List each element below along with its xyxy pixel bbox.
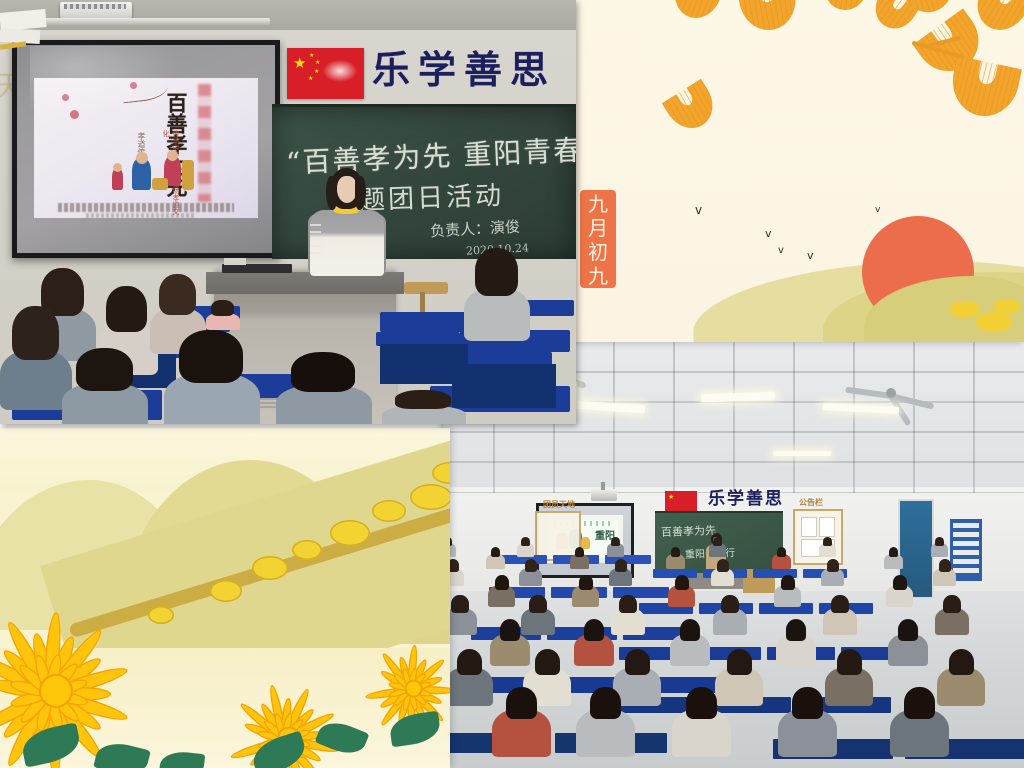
- wall-banner-classroom: 乐学善思: [708, 489, 784, 509]
- classroom-desk-2-1: [653, 569, 697, 578]
- classroom-student-head-5-1: [500, 619, 521, 641]
- ceiling-tile-36: [733, 431, 795, 463]
- ceiling-tile-34: [613, 431, 675, 463]
- foliage-clump-1: [976, 312, 1012, 332]
- classroom-student-head-3-3: [579, 575, 593, 590]
- ceiling-tile-50: [973, 461, 1024, 493]
- speaker-torso: [310, 210, 384, 276]
- classroom-student-head-6-4: [625, 649, 650, 675]
- classroom-student-head-5-3: [584, 619, 605, 641]
- classroom-student-head-6-8: [837, 649, 862, 675]
- classroom-student-head-7-7: [792, 687, 823, 719]
- podium-paper: [224, 258, 246, 265]
- collage-stage: 重阳 ★ 乐学善思 百善孝为先 重阳青春行 团员天地 公告栏: [0, 0, 1024, 768]
- student-head-10: [211, 300, 233, 316]
- classroom-student-head-6-10: [949, 649, 974, 675]
- photo-panel-podium[interactable]: 天地 百善孝为先 孝道传承 传承中华美德 弘扬孝道文化: [0, 0, 576, 424]
- student-head-6: [179, 330, 242, 383]
- ceiling-tile-37: [793, 431, 855, 463]
- ceiling-tile-48: [853, 461, 915, 493]
- ceiling-tile-8: [853, 341, 915, 373]
- ridge-tree-6: [410, 484, 450, 510]
- seal-char-1: 九: [580, 192, 616, 216]
- ceiling-tile-6: [733, 341, 795, 373]
- foliage-clump-3: [994, 299, 1020, 314]
- flag-glare: [323, 60, 357, 82]
- classroom-student-head-0-2: [521, 537, 530, 546]
- ceiling-tile-39: [913, 431, 975, 463]
- ceiling-tile-14: [613, 371, 675, 403]
- ceiling-tile-38: [853, 431, 915, 463]
- ceiling-tile-20: [973, 371, 1024, 403]
- classroom-student-head-4-2: [529, 595, 547, 613]
- classroom-student-head-4-6: [721, 595, 739, 613]
- ridge-tree-2: [252, 556, 288, 580]
- ceiling-tile-33: [553, 431, 615, 463]
- classroom-student-head-4-8: [831, 595, 849, 613]
- ceiling-tile-35: [673, 431, 735, 463]
- ceiling-tile-10: [973, 341, 1024, 373]
- classroom-student-head-0-8: [823, 537, 832, 546]
- classroom-student-head-3-5: [675, 575, 689, 590]
- classroom-student-head-0-4: [611, 537, 620, 546]
- projector-mount: [601, 482, 605, 490]
- student-head-2: [106, 286, 147, 332]
- date-seal: 九 月 初 九: [580, 190, 616, 288]
- national-flag: ★ ★ ★ ★ ★: [287, 48, 364, 99]
- classroom-student-head-1-5: [671, 547, 681, 557]
- flag-small-star-3: ★: [314, 69, 319, 75]
- ceiling-tile-4: [613, 341, 675, 373]
- classroom-student-head-1-7: [777, 547, 787, 557]
- classroom-student-head-7-9: [904, 687, 935, 719]
- podium-keyboard: [222, 264, 292, 273]
- wall-banner-podium: 乐学善思: [372, 44, 576, 96]
- classroom-student-head-2-8: [827, 559, 839, 572]
- ceiling-fan-right: [843, 379, 939, 407]
- projector-rail: [20, 18, 270, 25]
- classroom-student-head-7-5: [686, 687, 717, 719]
- classroom-student-head-7-1: [506, 687, 537, 719]
- student-head-8: [475, 248, 519, 296]
- ceiling-tile-5: [673, 341, 735, 373]
- side-chair: [404, 282, 448, 294]
- speaker-sleeve-stripe: [310, 224, 321, 258]
- classroom-student-head-2-10: [939, 559, 951, 572]
- bird-5: ᴠ: [875, 205, 880, 216]
- ceiling-tile-7: [793, 341, 855, 373]
- classroom-student-head-4-10: [943, 595, 961, 613]
- desk-side-3: [452, 364, 556, 408]
- flower-core-3: [404, 679, 423, 698]
- red-lantern-strip: [198, 84, 211, 202]
- classroom-student-head-0-6: [713, 537, 722, 546]
- classroom-student-head-5-5: [680, 619, 701, 641]
- ceiling-tile-44: [613, 461, 675, 493]
- slide-figures: [112, 152, 198, 196]
- ridge-tree-5: [372, 500, 406, 522]
- illustration-panel-chrysanthemum[interactable]: [0, 428, 450, 768]
- ridge-tree-4: [330, 520, 370, 546]
- classroom-student-head-2-2: [525, 559, 537, 572]
- screen-glare: [30, 46, 180, 116]
- ceiling-tile-31: [443, 431, 495, 463]
- ceiling-tile-40: [973, 431, 1024, 463]
- ridge-tree-3: [292, 540, 322, 560]
- classroom-student-head-2-4: [615, 559, 627, 572]
- bird-3: ᴠ: [778, 245, 784, 256]
- student-head-4: [159, 274, 196, 315]
- student-head-7: [291, 352, 354, 392]
- bird-2: ᴠ: [765, 228, 772, 239]
- poster-right-label: 公告栏: [799, 497, 823, 508]
- flag-small-star-1: ★: [309, 53, 314, 59]
- classroom-student-head-0-10: [935, 537, 944, 546]
- student-head-5: [76, 348, 133, 391]
- flag-big-star: ★: [293, 56, 306, 71]
- student-desk-5: [380, 312, 472, 332]
- classroom-student-head-4-4: [619, 595, 637, 613]
- classroom-student-head-5-7: [786, 619, 807, 641]
- classroom-student-head-6-0: [457, 649, 482, 675]
- light-tube-5: [773, 451, 831, 456]
- poster-left-label: 团员天地: [543, 499, 575, 510]
- ceiling-tile-32: [493, 431, 555, 463]
- ceiling-tile-41: [443, 461, 495, 493]
- classroom-student-head-7-3: [590, 687, 621, 719]
- national-flag-small: ★: [665, 491, 697, 512]
- ceiling-tile-42: [493, 461, 555, 493]
- classroom-student-head-1-3: [575, 547, 585, 557]
- classroom-student-head-3-7: [781, 575, 795, 590]
- student-head-3: [12, 306, 60, 360]
- student-head-9: [395, 390, 450, 409]
- seal-char-3: 初: [580, 240, 616, 264]
- classroom-student-head-6-6: [727, 649, 752, 675]
- bird-4: ᴠ: [807, 250, 814, 261]
- ceiling-tile-30: [973, 401, 1024, 433]
- ceiling-tile-47: [793, 461, 855, 493]
- illustration-panel-chongyang[interactable]: ᴠᴠᴠᴠᴠ 九 月 初 九: [573, 0, 1024, 342]
- projector: [591, 489, 617, 501]
- classroom-student-head-3-9: [893, 575, 907, 590]
- classroom-student-head-3-1: [495, 575, 509, 590]
- speaker-hair-left: [326, 176, 337, 210]
- classroom-student-head-4-0: [451, 595, 469, 613]
- classroom-student-head-1-1: [491, 547, 501, 557]
- speaker-face: [337, 176, 357, 203]
- ceiling-tile-49: [913, 461, 975, 493]
- seal-char-4: 九: [580, 264, 616, 288]
- slide-footer-text: [58, 203, 234, 212]
- classroom-student-head-1-9: [889, 547, 899, 557]
- seal-char-2: 月: [580, 216, 616, 240]
- bird-1: ᴠ: [695, 205, 702, 216]
- classroom-student-head-6-2: [535, 649, 560, 675]
- projector-unit: [60, 2, 132, 18]
- flag-small-star-2: ★: [315, 60, 320, 66]
- classroom-student-head-5-9: [898, 619, 919, 641]
- ceiling-tile-26: [733, 401, 795, 433]
- classroom-student-head-2-6: [717, 559, 729, 572]
- slide-footer-sub: [86, 213, 194, 218]
- flag-small-star-4: ★: [308, 76, 313, 82]
- ceiling-tile-9: [913, 341, 975, 373]
- flower-core-1: [39, 674, 73, 708]
- ceiling-tile-25: [673, 401, 735, 433]
- foliage-clump-2: [950, 301, 980, 318]
- ridge-tree-1: [210, 580, 242, 602]
